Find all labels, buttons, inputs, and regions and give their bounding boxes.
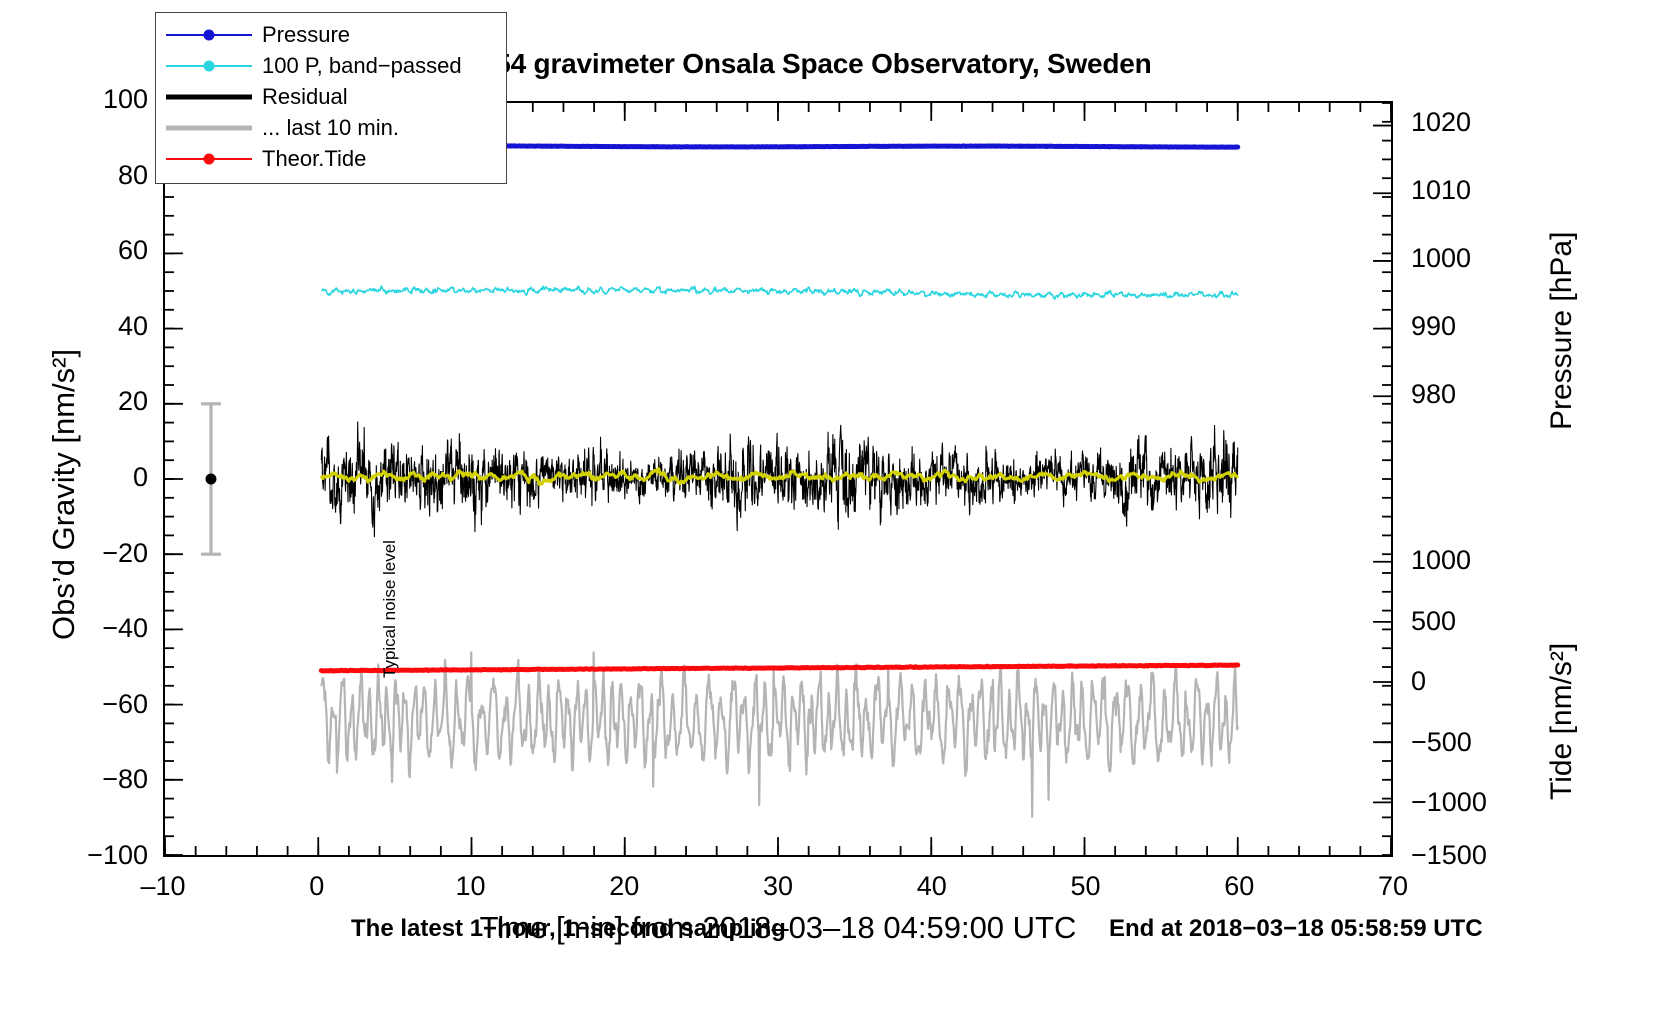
tide-tick-label: 500 xyxy=(1411,606,1531,637)
legend-label: 100 P, band−passed xyxy=(262,55,462,77)
y-axis-label-pressure: Pressure [hPa] xyxy=(1545,232,1579,430)
tide-tick-label: −1500 xyxy=(1411,840,1531,871)
plot-annotations xyxy=(201,404,221,554)
y-tick-label-left: 60 xyxy=(38,235,148,266)
y-axis-label-tide: Tide [nm/s²] xyxy=(1545,643,1579,800)
pressure-tick-label: 1000 xyxy=(1411,243,1521,274)
tide-tick-label: −500 xyxy=(1411,727,1531,758)
tide-tick-label: 1000 xyxy=(1411,545,1531,576)
series-last-10-min xyxy=(321,652,1237,816)
plot-area: The latest 1−hour, 1−second sampling End… xyxy=(163,101,1393,857)
chart-canvas: SCG_054 gravimeter Onsala Space Observat… xyxy=(0,0,1660,1020)
legend-label: ... last 10 min. xyxy=(262,117,399,139)
x-tick-label: 60 xyxy=(1194,871,1284,902)
legend-swatch-icon xyxy=(166,25,252,45)
legend-item-0[interactable]: Pressure xyxy=(166,19,498,50)
legend-marker-dot xyxy=(204,29,215,40)
x-tick-label: 30 xyxy=(733,871,823,902)
x-tick-label: 20 xyxy=(579,871,669,902)
x-tick-label: 70 xyxy=(1348,871,1438,902)
legend-swatch-icon xyxy=(166,149,252,169)
pressure-tick-label: 1010 xyxy=(1411,175,1521,206)
y-tick-label-left: −40 xyxy=(38,613,148,644)
y-tick-label-left: 20 xyxy=(38,386,148,417)
legend-line xyxy=(166,125,252,130)
legend-item-4[interactable]: Theor.Tide xyxy=(166,143,498,174)
legend-swatch-icon xyxy=(166,87,252,107)
series-theor-tide xyxy=(321,665,1237,671)
legend-label: Residual xyxy=(262,86,348,108)
legend-item-2[interactable]: Residual xyxy=(166,81,498,112)
legend-swatch-icon xyxy=(166,56,252,76)
plot-traces xyxy=(165,103,1391,855)
x-tick-label: ‒10 xyxy=(118,871,208,902)
legend-item-3[interactable]: ... last 10 min. xyxy=(166,112,498,143)
y-tick-label-left: −100 xyxy=(38,840,148,871)
noise-level-label: Typical noise level xyxy=(380,540,400,678)
legend-marker-dot xyxy=(204,153,215,164)
y-tick-label-left: −60 xyxy=(38,689,148,720)
legend: Pressure100 P, band−passedResidual... la… xyxy=(155,12,507,184)
y-tick-label-left: 100 xyxy=(38,84,148,115)
x-tick-label: 40 xyxy=(887,871,977,902)
x-tick-label: 10 xyxy=(426,871,516,902)
y-tick-label-left: 40 xyxy=(38,311,148,342)
noise-bar-center-dot xyxy=(205,474,216,485)
legend-marker-dot xyxy=(204,60,215,71)
data-series xyxy=(321,146,1237,817)
pressure-tick-label: 1020 xyxy=(1411,107,1521,138)
tide-tick-label: 0 xyxy=(1411,666,1531,697)
x-tick-label: 50 xyxy=(1041,871,1131,902)
y-tick-label-left: −20 xyxy=(38,538,148,569)
y-tick-label-left: 80 xyxy=(38,160,148,191)
x-tick-label: 0 xyxy=(272,871,362,902)
tide-tick-label: −1000 xyxy=(1411,787,1531,818)
legend-item-1[interactable]: 100 P, band−passed xyxy=(166,50,498,81)
y-tick-label-left: −80 xyxy=(38,764,148,795)
pressure-tick-label: 980 xyxy=(1411,379,1521,410)
x-axis-label: Time [min] from 2018‒03‒18 04:59:00 UTC xyxy=(163,910,1393,946)
pressure-tick-label: 990 xyxy=(1411,311,1521,342)
legend-swatch-icon xyxy=(166,118,252,138)
legend-line xyxy=(166,94,252,99)
legend-label: Pressure xyxy=(262,24,350,46)
legend-label: Theor.Tide xyxy=(262,148,366,170)
y-tick-label-left: 0 xyxy=(38,462,148,493)
series-100p-bandpassed xyxy=(321,286,1237,299)
